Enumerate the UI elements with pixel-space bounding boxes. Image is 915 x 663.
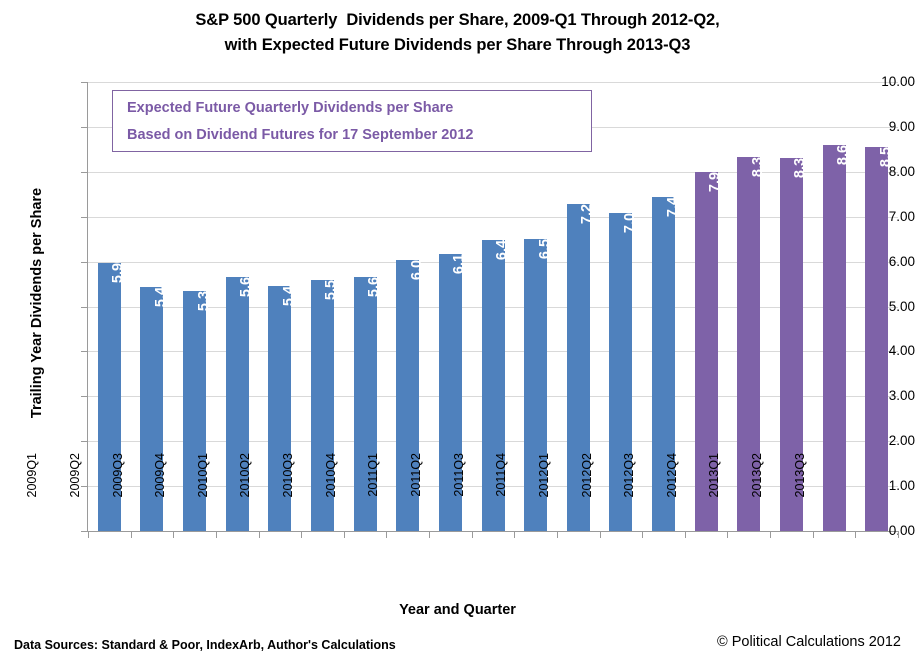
x-tick-label: 2010Q2 [238, 453, 252, 543]
chart-title: S&P 500 Quarterly Dividends per Share, 2… [0, 8, 915, 58]
x-tick-label: 2012Q4 [665, 453, 679, 543]
bar-value-label: 5.96 [109, 255, 126, 283]
x-tick-mark [88, 532, 89, 538]
x-tick-label: 2009Q2 [68, 453, 82, 543]
y-tick-label: 1.00 [841, 479, 915, 492]
x-tick-mark [472, 532, 473, 538]
y-tick-mark [81, 172, 87, 173]
x-tick-label: 2012Q2 [580, 453, 594, 543]
bar-value-label: 6.16 [450, 246, 467, 274]
x-tick-mark [344, 532, 345, 538]
bar-value-label: 7.28 [578, 196, 595, 224]
chart-title-line-1: S&P 500 Quarterly Dividends per Share, 2… [0, 8, 915, 33]
bar-value-label: 7.99 [706, 164, 723, 192]
bar-value-label: 8.60 [834, 137, 851, 165]
x-tick-label: 2010Q3 [281, 453, 295, 543]
y-tick-label: 10.00 [841, 75, 915, 88]
y-tick-label: 3.00 [841, 389, 915, 402]
x-tick-mark [600, 532, 601, 538]
annotation-line-2: Based on Dividend Futures for 17 Septemb… [113, 122, 591, 149]
x-tick-mark [429, 532, 430, 538]
y-tick-mark [81, 441, 87, 442]
bar-value-label: 6.50 [536, 231, 553, 259]
y-tick-mark [81, 396, 87, 397]
bar-value-label: 8.33 [749, 149, 766, 177]
x-tick-label: 2013Q2 [750, 453, 764, 543]
x-tick-label: 2012Q3 [622, 453, 636, 543]
x-tick-mark [898, 532, 899, 538]
x-tick-mark [727, 532, 728, 538]
y-tick-mark [81, 351, 87, 352]
x-tick-label: 2011Q1 [366, 453, 380, 543]
x-tick-label: 2011Q3 [452, 453, 466, 543]
annotation-line-1: Expected Future Quarterly Dividends per … [113, 91, 591, 122]
y-tick-label: 2.00 [841, 434, 915, 447]
x-axis-title: Year and Quarter [0, 602, 915, 618]
x-tick-label: 2012Q1 [537, 453, 551, 543]
bar-value-label: 7.45 [664, 188, 681, 216]
y-tick-label: 6.00 [841, 255, 915, 268]
bar-value-label: 5.35 [195, 283, 212, 311]
x-tick-label: 2009Q1 [25, 453, 39, 543]
x-tick-mark [386, 532, 387, 538]
chart-figure: S&P 500 Quarterly Dividends per Share, 2… [0, 0, 915, 663]
y-tick-label: 8.00 [841, 165, 915, 178]
y-gridline [88, 82, 898, 83]
x-tick-label: 2011Q2 [409, 453, 423, 543]
forecast-annotation-box: Expected Future Quarterly Dividends per … [112, 90, 592, 152]
x-tick-label: 2010Q4 [324, 453, 338, 543]
bar-value-label: 6.49 [493, 231, 510, 259]
y-tick-mark [81, 217, 87, 218]
x-tick-mark [216, 532, 217, 538]
x-tick-label: 2011Q4 [494, 453, 508, 543]
x-tick-mark [557, 532, 558, 538]
bar-2013Q2[interactable]: 8.60 [823, 145, 846, 531]
footer-data-sources: Data Sources: Standard & Poor, IndexArb,… [14, 638, 396, 652]
y-tick-label: 5.00 [841, 300, 915, 313]
y-tick-label: 9.00 [841, 120, 915, 133]
bar-value-label: 8.55 [877, 139, 894, 167]
y-tick-mark [81, 127, 87, 128]
y-gridline [88, 172, 898, 173]
bar-2013Q3[interactable]: 8.55 [865, 147, 888, 531]
bar-value-label: 5.44 [152, 279, 169, 307]
y-tick-label: 7.00 [841, 210, 915, 223]
x-tick-mark [131, 532, 132, 538]
bar-value-label: 5.58 [322, 272, 339, 300]
bar-value-label: 5.46 [280, 278, 297, 306]
x-tick-mark [173, 532, 174, 538]
footer-copyright: © Political Calculations 2012 [717, 634, 901, 650]
bar-value-label: 5.66 [365, 269, 382, 297]
x-tick-label: 2013Q1 [707, 453, 721, 543]
x-tick-mark [642, 532, 643, 538]
y-axis-title: Trailing Year Dividends per Share [29, 93, 45, 513]
x-tick-mark [770, 532, 771, 538]
x-tick-label: 2009Q3 [111, 453, 125, 543]
x-tick-mark [514, 532, 515, 538]
y-tick-mark [81, 307, 87, 308]
x-tick-mark [259, 532, 260, 538]
y-gridline [88, 217, 898, 218]
x-tick-mark [855, 532, 856, 538]
bar-value-label: 8.30 [791, 150, 808, 178]
bar-value-label: 5.66 [237, 269, 254, 297]
x-tick-label: 2013Q3 [793, 453, 807, 543]
y-tick-label: 0.00 [841, 524, 915, 537]
x-tick-mark [685, 532, 686, 538]
y-tick-mark [81, 262, 87, 263]
bar-value-label: 7.09 [621, 205, 638, 233]
x-tick-label: 2010Q1 [196, 453, 210, 543]
x-tick-mark [813, 532, 814, 538]
bar-value-label: 6.03 [408, 252, 425, 280]
y-tick-label: 4.00 [841, 344, 915, 357]
x-tick-mark [301, 532, 302, 538]
chart-title-line-2: with Expected Future Dividends per Share… [0, 33, 915, 58]
y-tick-mark [81, 82, 87, 83]
x-tick-label: 2009Q4 [153, 453, 167, 543]
